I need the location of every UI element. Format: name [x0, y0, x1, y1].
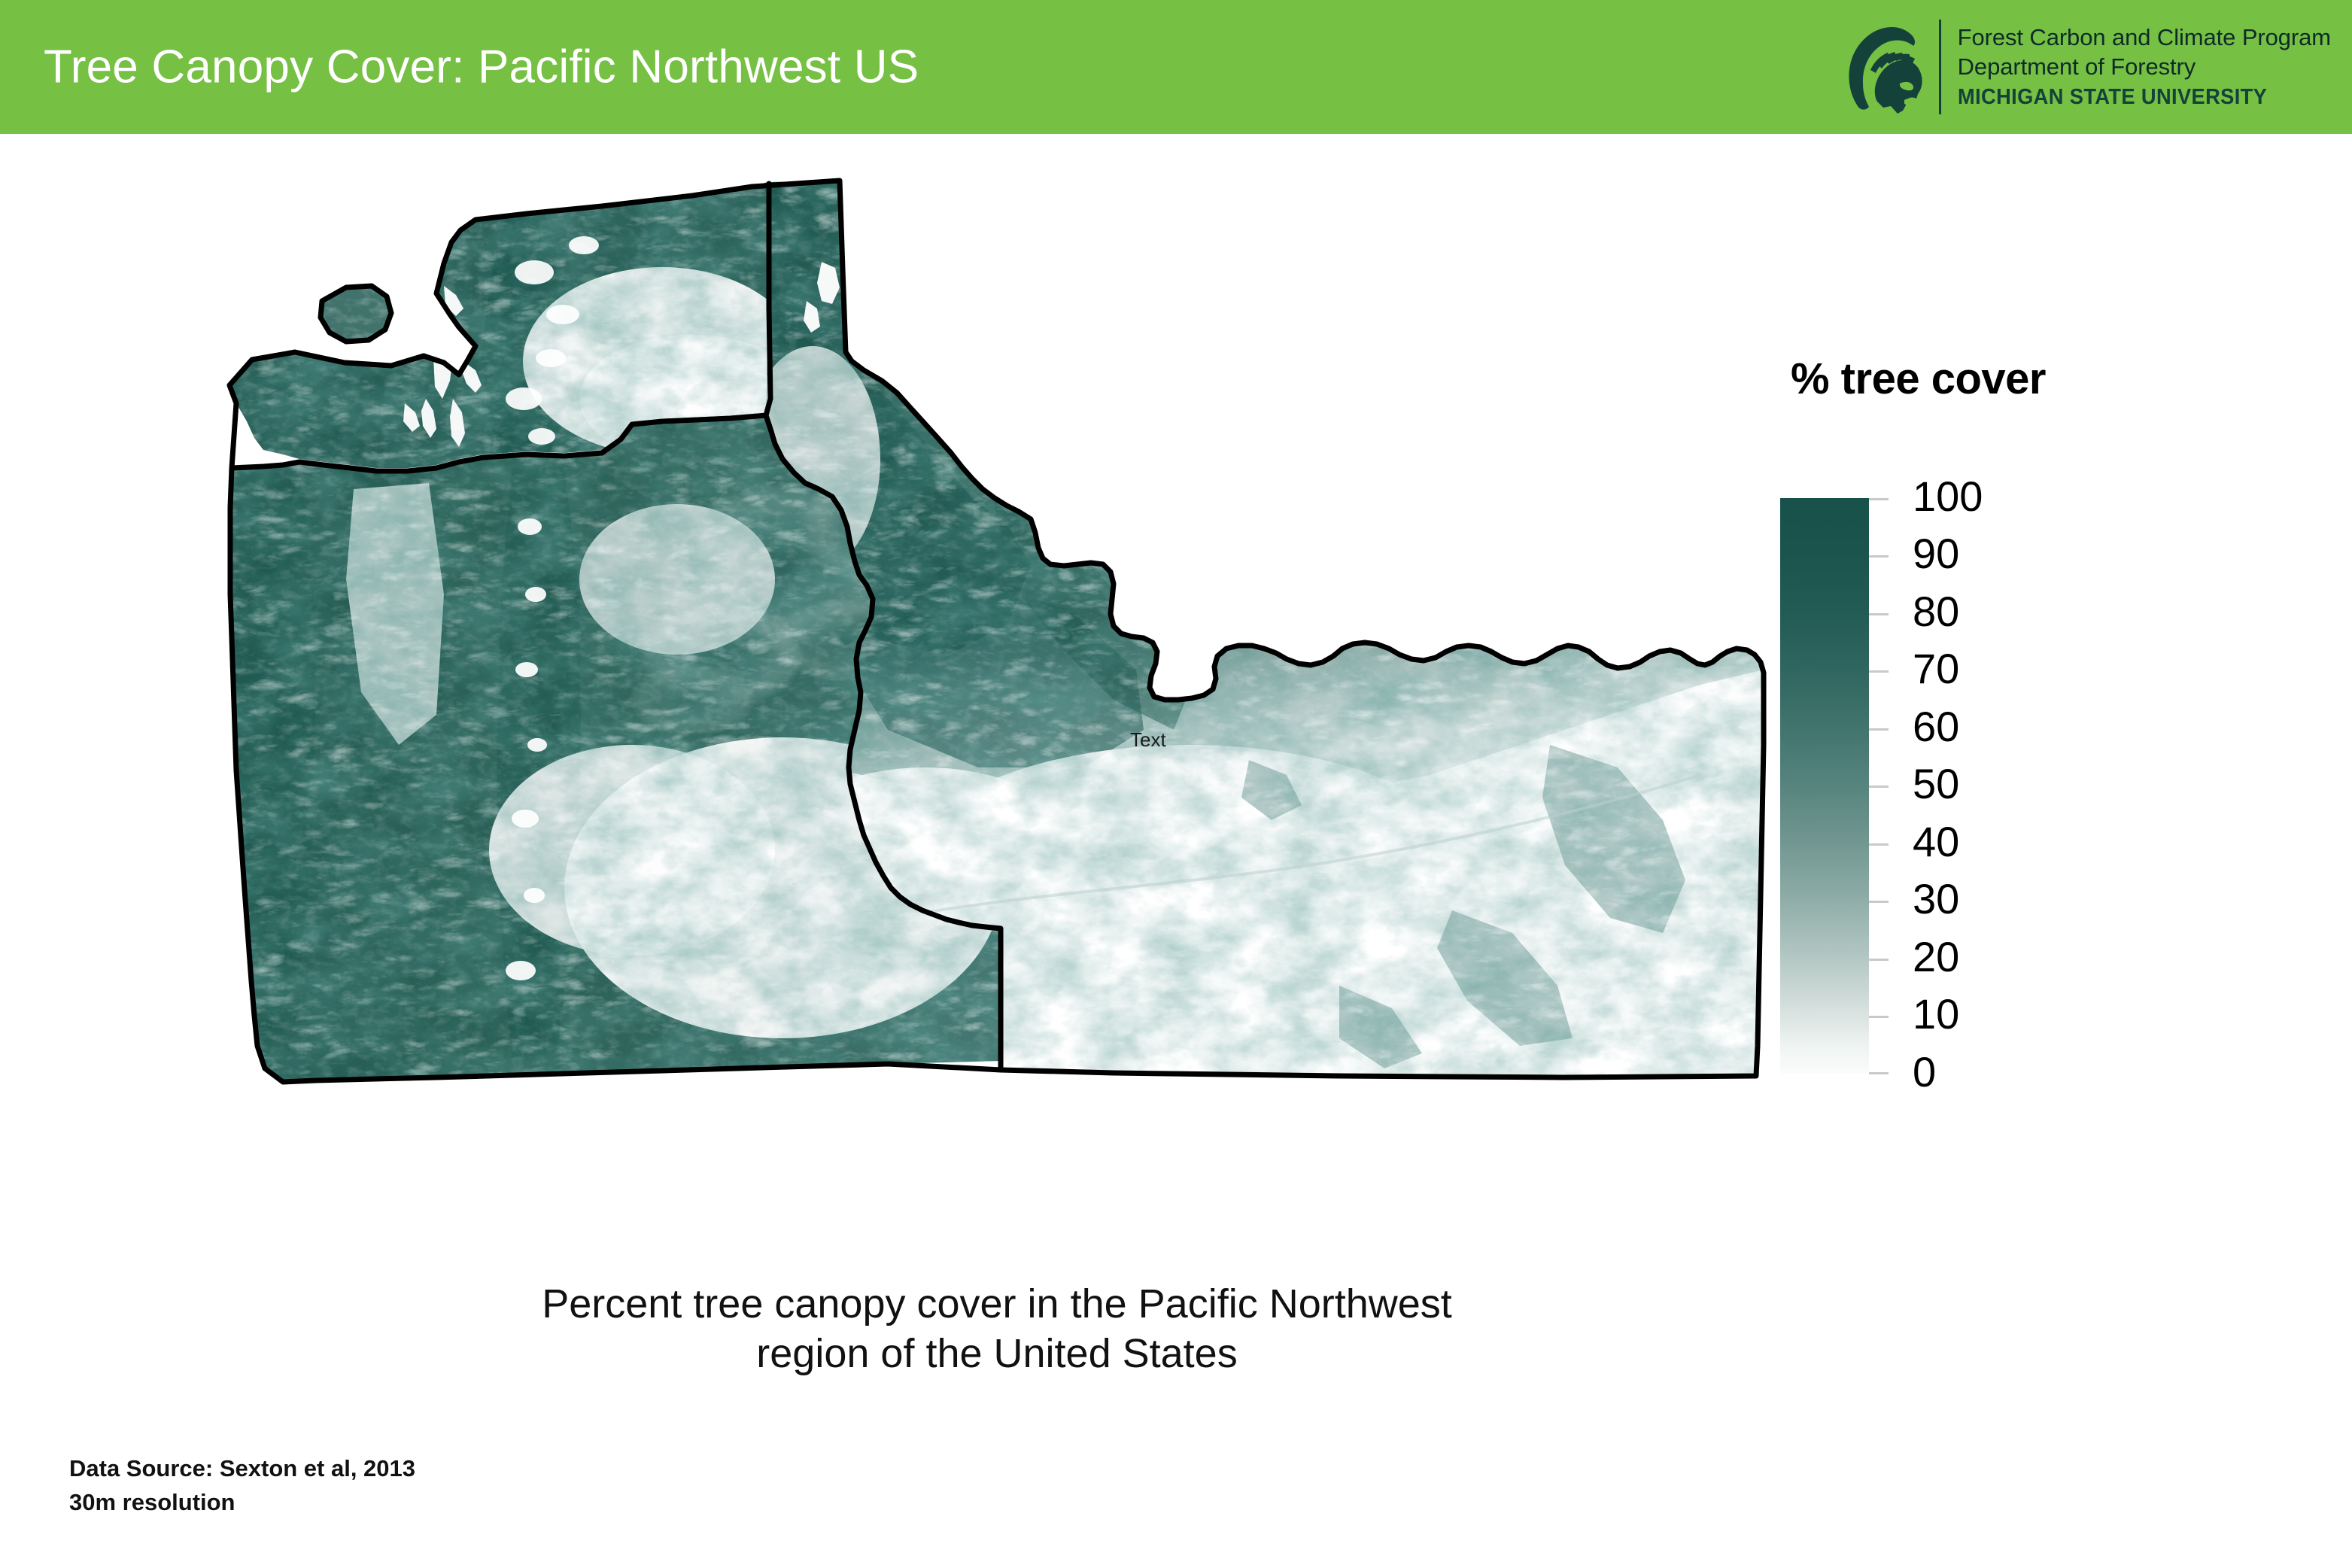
- footnote-resolution: 30m resolution: [69, 1486, 415, 1520]
- colorbar-gradient: [1780, 498, 1869, 1074]
- colorbar-label-50: 50: [1913, 763, 1959, 805]
- msu-logo: Forest Carbon and Climate Program Depart…: [1838, 11, 2331, 123]
- colorbar-label-80: 80: [1913, 591, 1959, 633]
- colorbar-tick-10: [1869, 1016, 1889, 1018]
- colorbar-group: 100 90 80 70 60 50 40 30 20 10 0: [1780, 498, 2171, 1077]
- infographic-page: Tree Canopy Cover: Pacific Northwest US: [0, 0, 2352, 1568]
- tree-canopy-raster-map: [211, 173, 1783, 1249]
- colorbar-tick-20: [1869, 959, 1889, 961]
- colorbar-tick-50: [1869, 786, 1889, 788]
- figure-caption: Percent tree canopy cover in the Pacific…: [211, 1279, 1783, 1379]
- logo-divider: [1939, 20, 1941, 114]
- colorbar-label-20: 20: [1913, 936, 1959, 978]
- footnote-source: Data Source: Sexton et al, 2013: [69, 1452, 415, 1486]
- colorbar-label-100: 100: [1913, 476, 1983, 518]
- legend: % tree cover 100 90 80 70 60 50 40 30 20…: [1776, 354, 2197, 1106]
- colorbar-tick-40: [1869, 843, 1889, 846]
- caption-line-2: region of the United States: [211, 1329, 1783, 1378]
- data-source-footnote: Data Source: Sexton et al, 2013 30m reso…: [69, 1452, 415, 1520]
- logo-text-block: Forest Carbon and Climate Program Depart…: [1958, 23, 2331, 110]
- caption-line-1: Percent tree canopy cover in the Pacific…: [211, 1279, 1783, 1329]
- logo-program-name: Forest Carbon and Climate Program: [1958, 23, 2331, 53]
- legend-title: % tree cover: [1791, 354, 2046, 404]
- colorbar-tick-90: [1869, 555, 1889, 558]
- colorbar-tick-0: [1869, 1072, 1889, 1074]
- colorbar-tick-70: [1869, 670, 1889, 673]
- colorbar-label-10: 10: [1913, 993, 1959, 1035]
- colorbar-tick-30: [1869, 901, 1889, 903]
- spartan-helmet-icon: [1838, 14, 1928, 120]
- logo-department-name: Department of Forestry: [1958, 53, 2331, 82]
- colorbar-label-90: 90: [1913, 533, 1959, 575]
- header-bar: Tree Canopy Cover: Pacific Northwest US: [0, 0, 2352, 134]
- colorbar-label-40: 40: [1913, 821, 1959, 863]
- colorbar-label-0: 0: [1913, 1051, 1936, 1093]
- colorbar-label-70: 70: [1913, 648, 1959, 690]
- colorbar-tick-100: [1869, 498, 1889, 500]
- colorbar-label-60: 60: [1913, 706, 1959, 748]
- colorbar-tick-80: [1869, 613, 1889, 615]
- map-figure: Text: [211, 173, 1783, 1249]
- colorbar-tick-60: [1869, 728, 1889, 731]
- colorbar-label-30: 30: [1913, 878, 1959, 920]
- logo-university-name: MICHIGAN STATE UNIVERSITY: [1958, 84, 2309, 111]
- map-stray-text-label: Text: [1130, 728, 1166, 752]
- page-title: Tree Canopy Cover: Pacific Northwest US: [44, 41, 919, 94]
